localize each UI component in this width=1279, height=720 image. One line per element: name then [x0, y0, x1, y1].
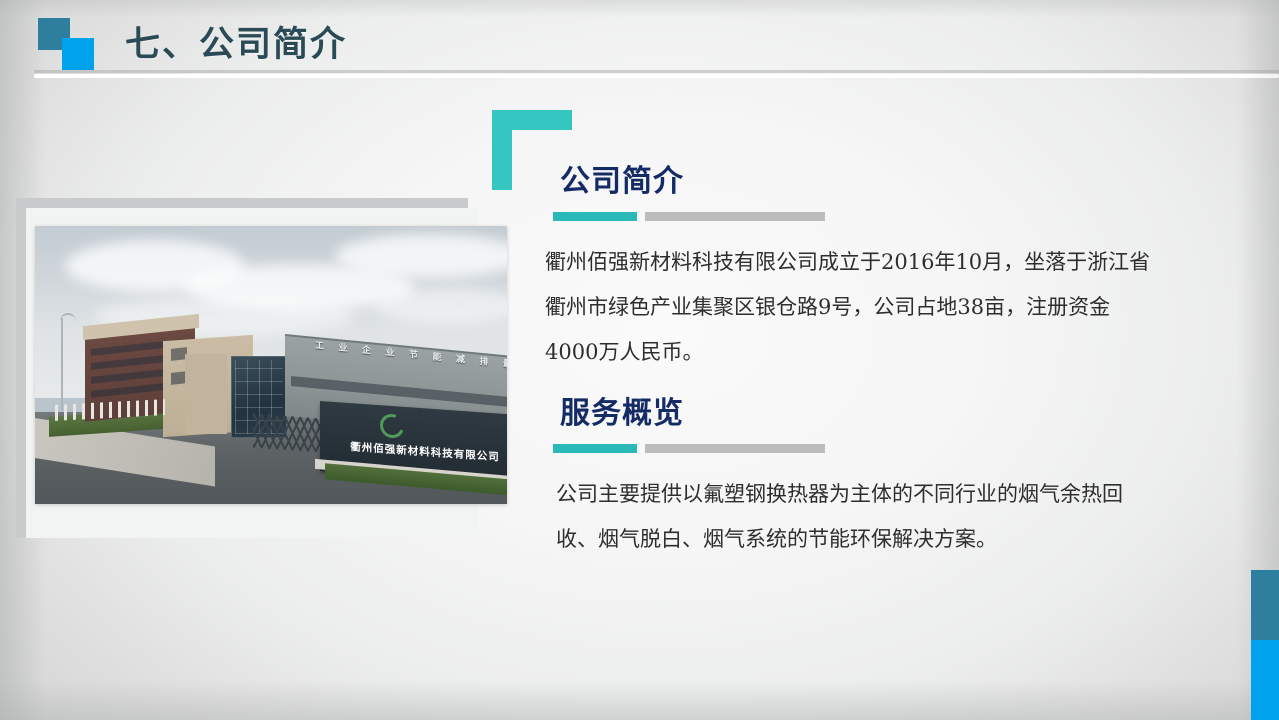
slide-canvas: 七、公司简介: [0, 0, 1279, 720]
paragraph-line: 4000万人民币。: [545, 330, 703, 375]
header-rule-shadow: [34, 70, 1279, 73]
paragraph-line: 衢州市绿色产业集聚区银仓路9号，公司占地38亩，注册资金: [545, 285, 1110, 330]
paragraph-line: 公司主要提供以氟塑钢换热器为主体的不同行业的烟气余热回: [556, 472, 1123, 517]
paragraph-line: 衢州佰强新材料科技有限公司成立于2016年10月，坐落于浙江省: [545, 240, 1150, 285]
street-lamp-icon: [61, 318, 63, 410]
paragraph-line: 收、烟气脱白、烟气系统的节能环保解决方案。: [556, 517, 997, 562]
section-divider-1: [553, 212, 825, 221]
corner-accent-decoration: [1251, 570, 1279, 720]
slide-header: 七、公司简介: [0, 0, 1279, 84]
section-divider-2: [553, 444, 825, 453]
page-title: 七、公司简介: [125, 16, 347, 67]
header-square-bright-icon: [62, 38, 94, 70]
company-photo: 工 业 企 业 节 能 减 排 最 衢州佰强新材料科技有限公司: [35, 226, 507, 504]
header-rule: [34, 74, 1279, 78]
section-heading-company-profile: 公司简介: [560, 156, 684, 200]
section-heading-service-overview: 服务概览: [560, 388, 684, 432]
factory-gate-icon: [253, 414, 323, 453]
